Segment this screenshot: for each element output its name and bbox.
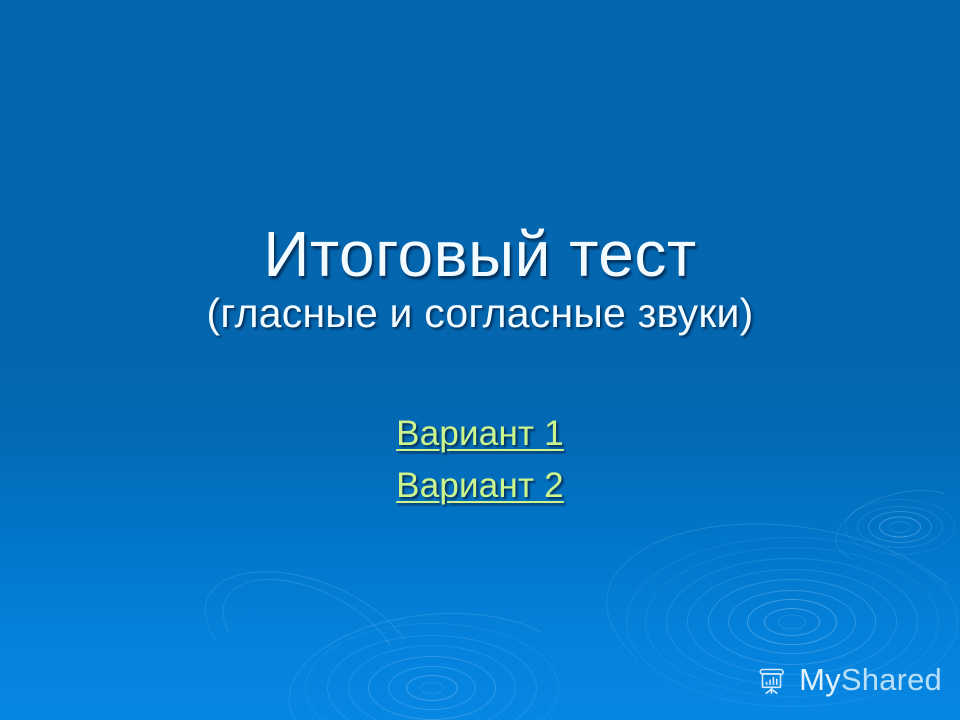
myshared-watermark: MyShared — [756, 662, 942, 698]
slide-subtitle: (гласные и согласные звуки) — [0, 291, 960, 337]
water-ripple-decoration — [0, 0, 960, 720]
list-item: Вариант 2 — [0, 466, 960, 505]
myshared-wordmark: MyShared — [799, 662, 942, 698]
link-variant-2[interactable]: Вариант 2 — [396, 466, 564, 505]
link-variant-1[interactable]: Вариант 1 — [396, 414, 564, 453]
presentation-slide: Итоговый тест (гласные и согласные звуки… — [0, 0, 960, 720]
title-block: Итоговый тест (гласные и согласные звуки… — [0, 222, 960, 337]
wordmark-my: My — [799, 662, 841, 697]
presentation-chart-icon — [756, 663, 790, 697]
list-item: Вариант 1 — [0, 414, 960, 453]
variant-links-list: Вариант 1 Вариант 2 — [0, 414, 960, 518]
slide-title: Итоговый тест — [0, 222, 960, 287]
wordmark-shared: Shared — [841, 662, 942, 697]
